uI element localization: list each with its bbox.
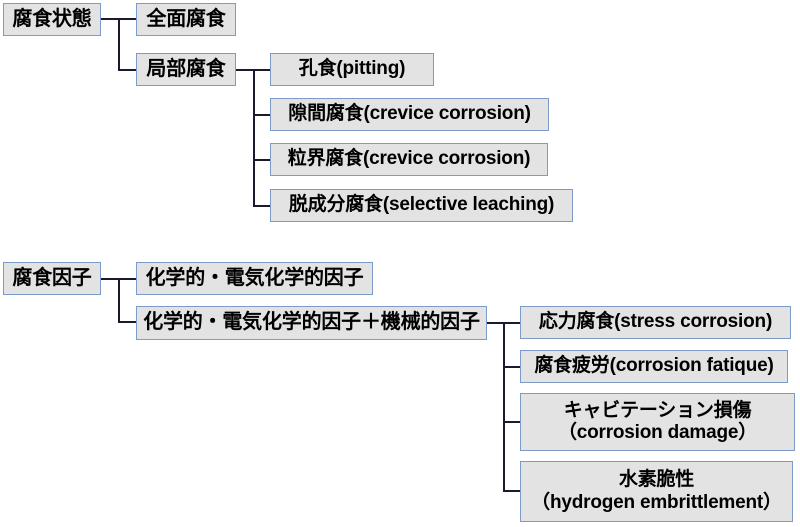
connector-factor-branch-1 <box>118 278 137 280</box>
node-hydrogen-embrittlement: 水素脆性 （hydrogen embrittlement） <box>520 461 793 522</box>
connector-state-branch-2 <box>118 69 137 71</box>
connector-mech-branch-4 <box>503 490 521 492</box>
node-stress-corrosion: 応力腐食(stress corrosion) <box>520 306 791 339</box>
node-cavitation-damage: キャビテーション損傷 （corrosion damage） <box>520 393 795 451</box>
connector-mech-branch-3 <box>503 421 521 423</box>
node-selective-leaching: 脱成分腐食(selective leaching) <box>270 189 573 222</box>
connector-mech-branch-2 <box>503 366 521 368</box>
node-local-corrosion: 局部腐食 <box>136 53 236 86</box>
connector-factor-branch-2 <box>118 321 137 323</box>
connector-state-trunk <box>118 18 120 71</box>
connector-local-branch-1 <box>253 69 271 71</box>
node-corrosion-state-root: 腐食状態 <box>3 3 101 36</box>
connector-local-trunk <box>253 69 255 207</box>
node-corrosion-fatigue: 腐食疲労(corrosion fatique) <box>520 350 788 383</box>
node-crevice-corrosion: 隙間腐食(crevice corrosion) <box>270 98 549 131</box>
node-general-corrosion: 全面腐食 <box>136 3 236 36</box>
node-chemical-plus-mechanical-factor: 化学的・電気化学的因子＋機械的因子 <box>136 306 487 340</box>
connector-mech-trunk <box>503 322 505 492</box>
connector-factor-trunk <box>118 278 120 323</box>
connector-local-branch-3 <box>253 159 271 161</box>
diagram-canvas: 腐食状態 全面腐食 局部腐食 孔食(pitting) 隙間腐食(crevice … <box>0 0 800 527</box>
connector-local-branch-2 <box>253 114 271 116</box>
node-chemical-factor: 化学的・電気化学的因子 <box>136 262 373 295</box>
connector-local-branch-4 <box>253 205 271 207</box>
node-pitting: 孔食(pitting) <box>270 53 434 86</box>
connector-mech-branch-1 <box>503 322 521 324</box>
node-corrosion-factor-root: 腐食因子 <box>3 262 101 295</box>
connector-state-branch-1 <box>118 18 137 20</box>
node-intergranular-corrosion: 粒界腐食(crevice corrosion) <box>270 143 548 176</box>
